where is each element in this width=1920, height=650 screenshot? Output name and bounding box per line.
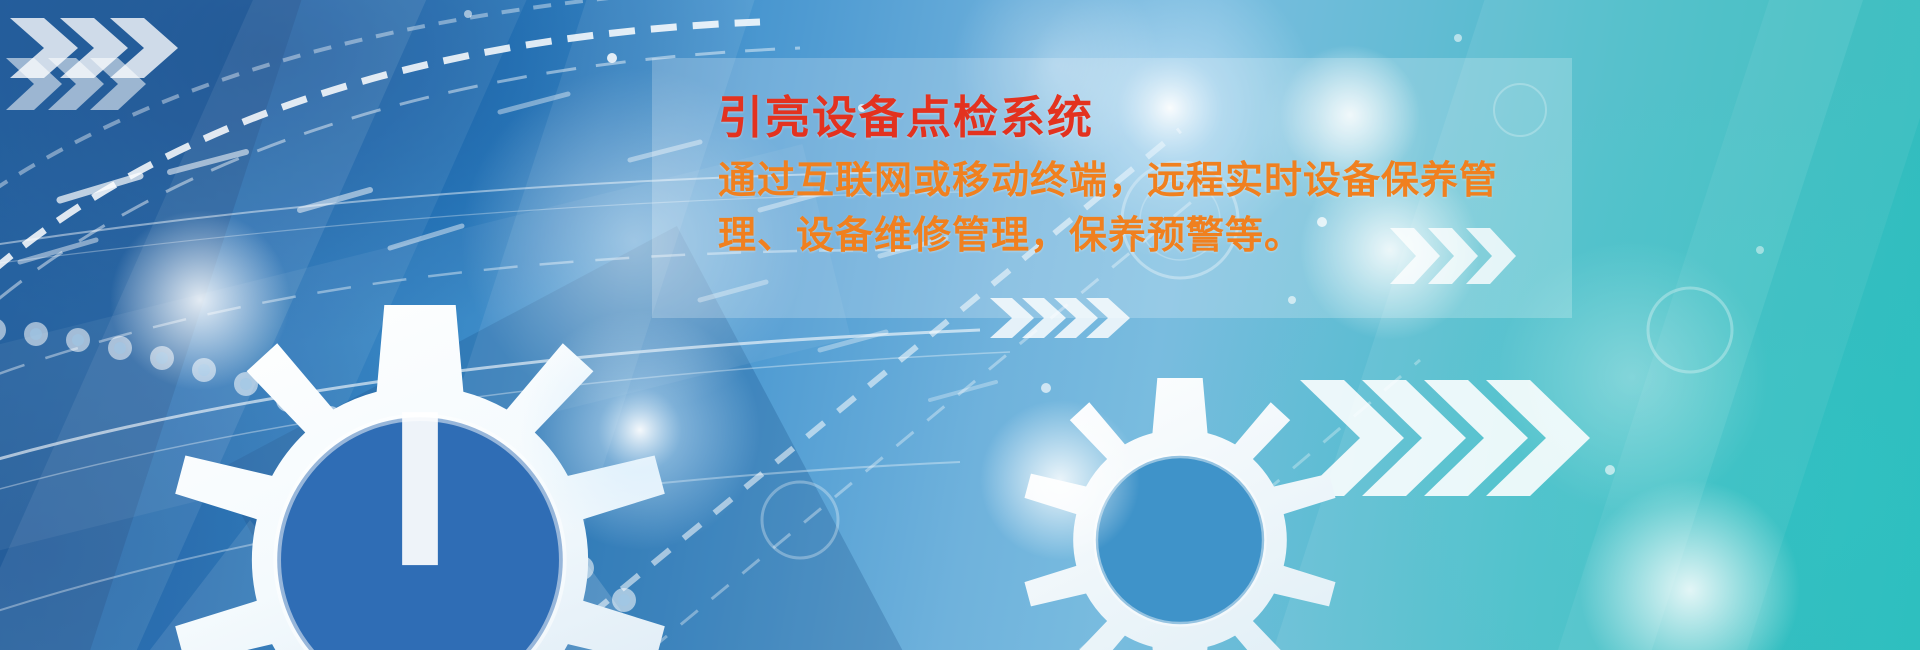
dotted-arc-group: [0, 318, 636, 612]
dotted-arc-inner: [0, 324, 630, 606]
background-band-dark-1: [0, 0, 343, 650]
chevron-arrows-bottom-right: [1300, 380, 1590, 496]
background-band-2: [0, 0, 613, 650]
chevron-arrows-top-left-2: [6, 58, 146, 110]
background-band-6: [1494, 0, 1920, 650]
chevron-arrows-middle: [990, 298, 1130, 338]
banner-text-block: 引亮设备点检系统 通过互联网或移动终端，远程实时设备保养管理、设备维修管理，保养…: [718, 95, 1518, 264]
hero-banner: 引亮设备点检系统 通过互联网或移动终端，远程实时设备保养管理、设备维修管理，保养…: [0, 0, 1920, 650]
gear-small: [1024, 378, 1335, 650]
background-band-1: [0, 0, 471, 650]
background-band-dark-2: [218, 226, 902, 650]
chevron-arrows-top-left: [10, 18, 178, 78]
banner-title: 引亮设备点检系统: [718, 95, 1518, 140]
triangle-shapes: [150, 470, 650, 650]
banner-subtitle: 通过互联网或移动终端，远程实时设备保养管理、设备维修管理，保养预警等。: [718, 154, 1508, 264]
gear-large: [175, 305, 665, 650]
